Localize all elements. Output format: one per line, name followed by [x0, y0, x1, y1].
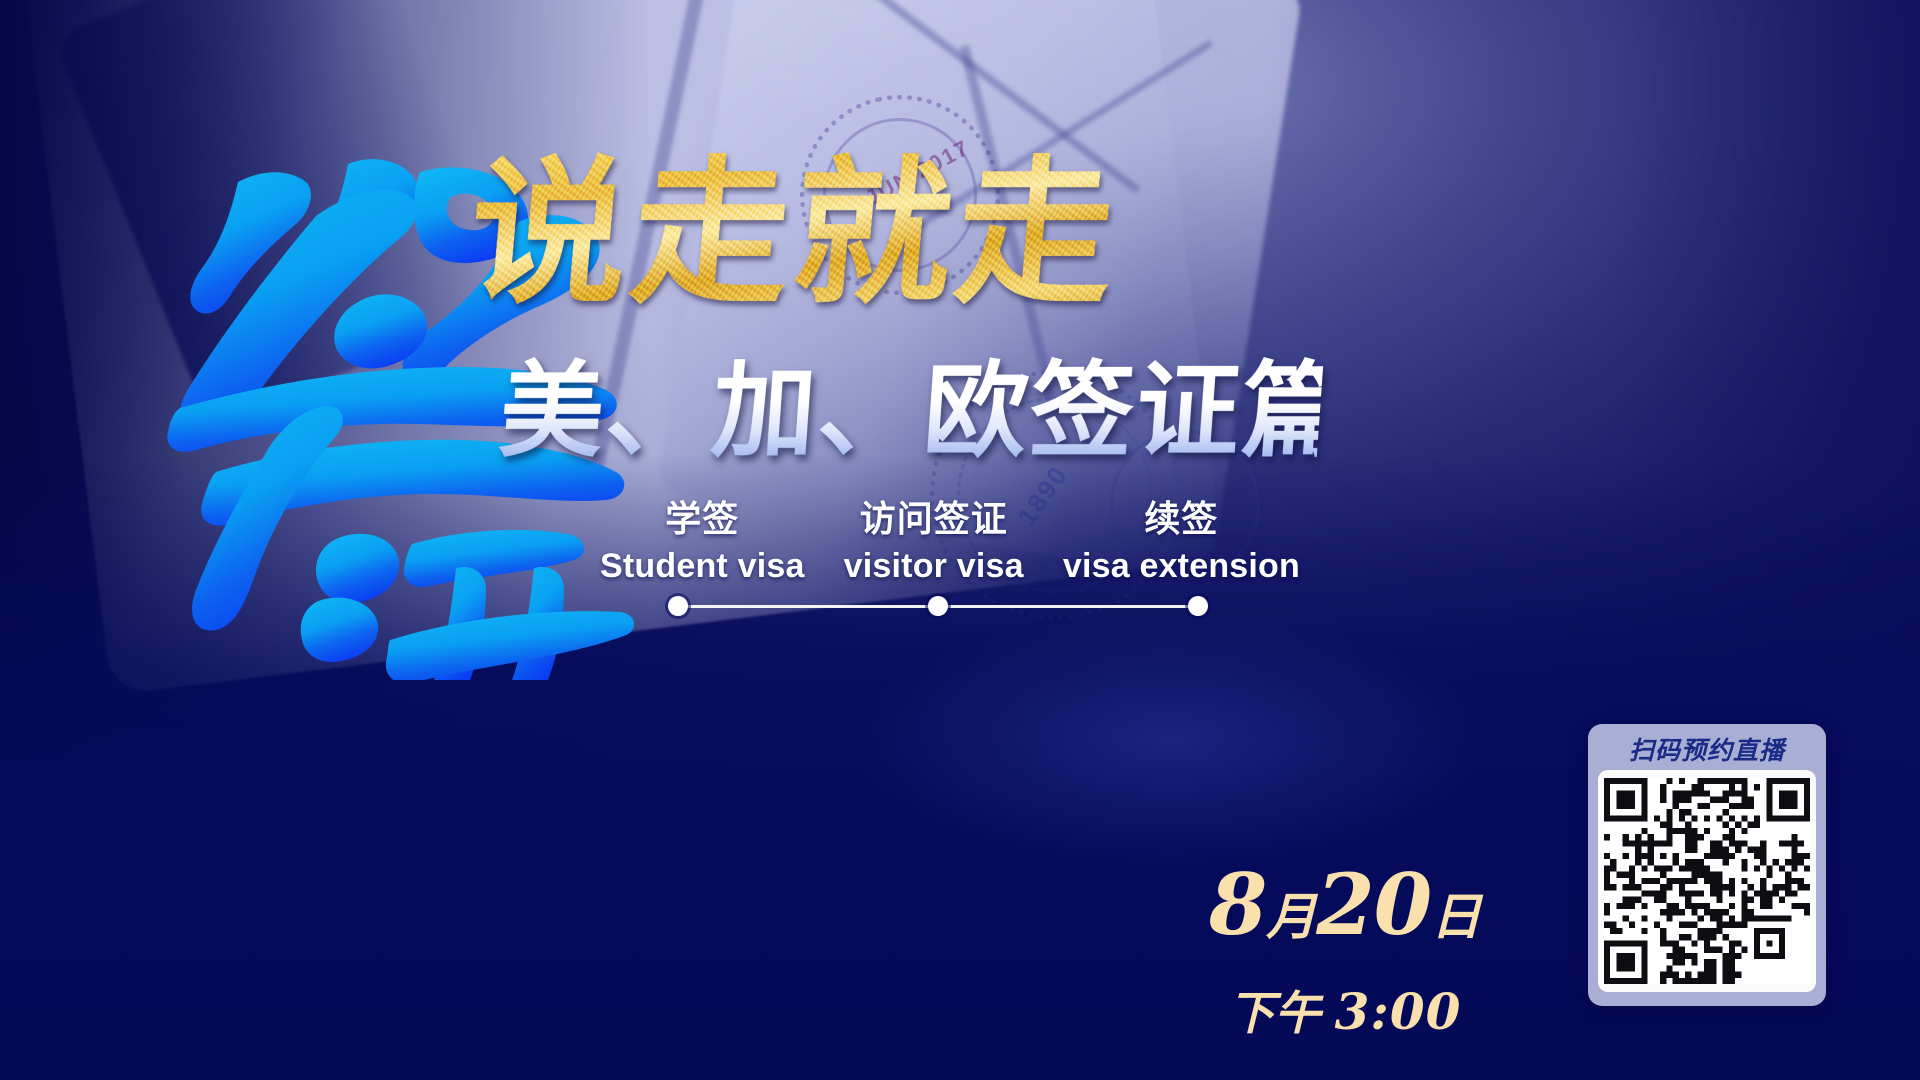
visa-livestream-banner: JUN 2017 1890	[0, 0, 1920, 1080]
visa-types-row: 学签 Student visa 访问签证 visitor visa 续签 vis…	[600, 498, 1300, 588]
qr-panel[interactable]: 扫码预约直播	[1588, 724, 1826, 1006]
event-time-value: 3:00	[1321, 982, 1462, 1041]
visa-item-label-cn: 学签	[600, 498, 805, 542]
visa-item-label-en: Student visa	[600, 544, 805, 588]
qr-panel-title: 扫码预约直播	[1598, 732, 1816, 770]
event-day-number: 20	[1316, 855, 1431, 954]
rail-dot-student	[668, 596, 688, 616]
subtitle-white-text: 美、加、欧签证篇	[496, 352, 1324, 470]
event-month-number: 8	[1209, 855, 1266, 954]
qr-code-image[interactable]	[1598, 770, 1816, 992]
event-day-unit: 日	[1431, 888, 1481, 946]
subtitle-white: 美、加、欧签证篇	[500, 352, 1320, 472]
visa-progress-rail	[668, 596, 1208, 616]
visa-item-visitor: 访问签证 visitor visa	[844, 498, 1024, 588]
visa-item-student: 学签 Student visa	[600, 498, 805, 588]
headline-gold-text: 说走就走	[462, 148, 1217, 320]
rail-dot-visitor	[928, 596, 948, 616]
event-time: 下午3:00	[1180, 979, 1510, 1062]
visa-item-label-en: visitor visa	[844, 544, 1024, 588]
rail-dot-extension	[1188, 596, 1208, 616]
visa-item-label-cn: 访问签证	[844, 498, 1024, 542]
visa-item-label-en: visa extension	[1063, 544, 1300, 588]
event-date: 8月20日	[1180, 862, 1510, 977]
headline-gold: 说走就走	[470, 148, 1210, 338]
event-datetime: 8月20日 下午3:00	[1180, 862, 1510, 1062]
event-ampm: 下午	[1229, 986, 1321, 1040]
visa-item-extension: 续签 visa extension	[1063, 498, 1300, 588]
event-month-unit: 月	[1266, 888, 1316, 946]
visa-item-label-cn: 续签	[1063, 498, 1300, 542]
